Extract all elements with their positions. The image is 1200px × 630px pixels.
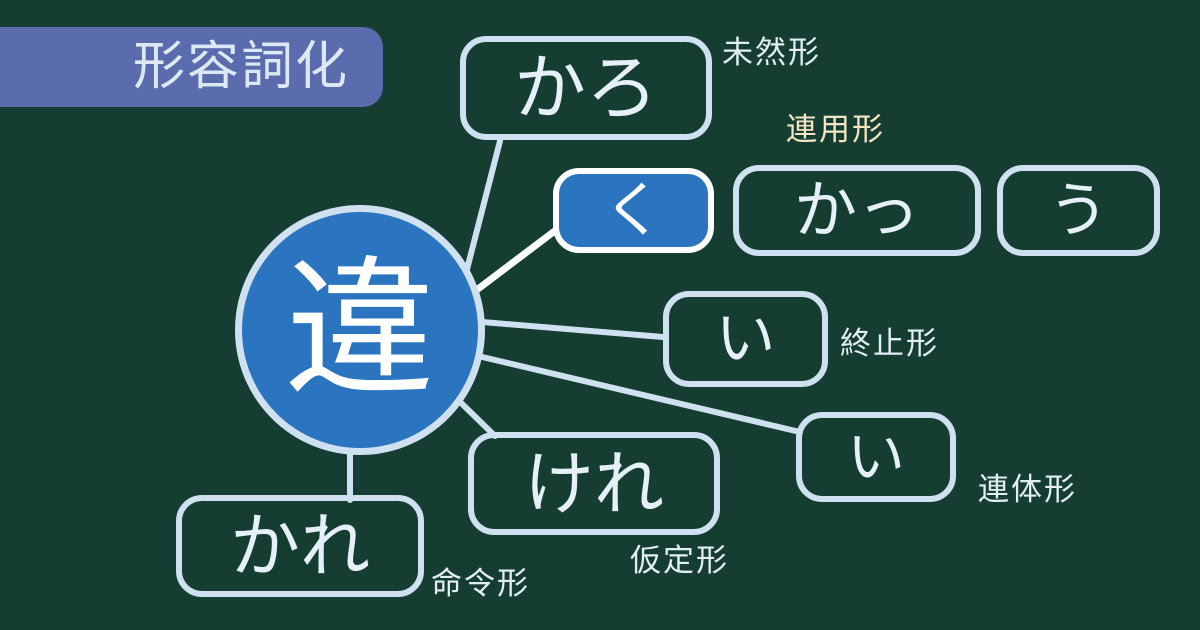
node-karo[interactable]: かろ [460, 36, 712, 140]
node-kere[interactable]: けれ [468, 432, 720, 535]
form-label-rentaikei: 連体形 [978, 475, 1077, 506]
title-badge: 形容詞化 [0, 27, 383, 107]
node-label-ku: く [604, 181, 664, 241]
form-label-renyokei: 連用形 [786, 115, 885, 146]
form-label-shushikei: 終止形 [840, 329, 939, 360]
edge-center-to-ku [470, 230, 556, 295]
node-label-karo: かろ [514, 52, 658, 124]
node-label-u: う [1049, 181, 1109, 241]
node-i-shushi[interactable]: い [663, 291, 828, 387]
node-label-kere: けれ [524, 449, 664, 519]
form-label-kateikei: 仮定形 [630, 546, 729, 577]
node-label-i-rentai: い [847, 428, 905, 486]
center-node-kanji[interactable]: 違 [235, 205, 485, 455]
conjugation-diagram: 形容詞化 違かろくかっういいけれかれ 未然形連用形終止形連体形仮定形命令形 [0, 0, 1200, 630]
form-label-meireikei: 命令形 [431, 569, 530, 600]
node-label-kare: かれ [230, 511, 370, 581]
node-kare[interactable]: かれ [176, 495, 424, 597]
node-ku[interactable]: く [553, 168, 714, 253]
edge-center-to-i-shushi [482, 322, 663, 337]
center-node-label: 違 [285, 255, 435, 405]
node-u[interactable]: う [997, 165, 1160, 256]
node-label-i-shushi: い [716, 309, 776, 369]
node-label-katt: かっ [794, 179, 920, 242]
node-i-rentai[interactable]: い [796, 412, 956, 502]
node-katt[interactable]: かっ [733, 165, 981, 256]
title-badge-label: 形容詞化 [133, 41, 349, 93]
form-label-mizenkei: 未然形 [722, 38, 821, 69]
